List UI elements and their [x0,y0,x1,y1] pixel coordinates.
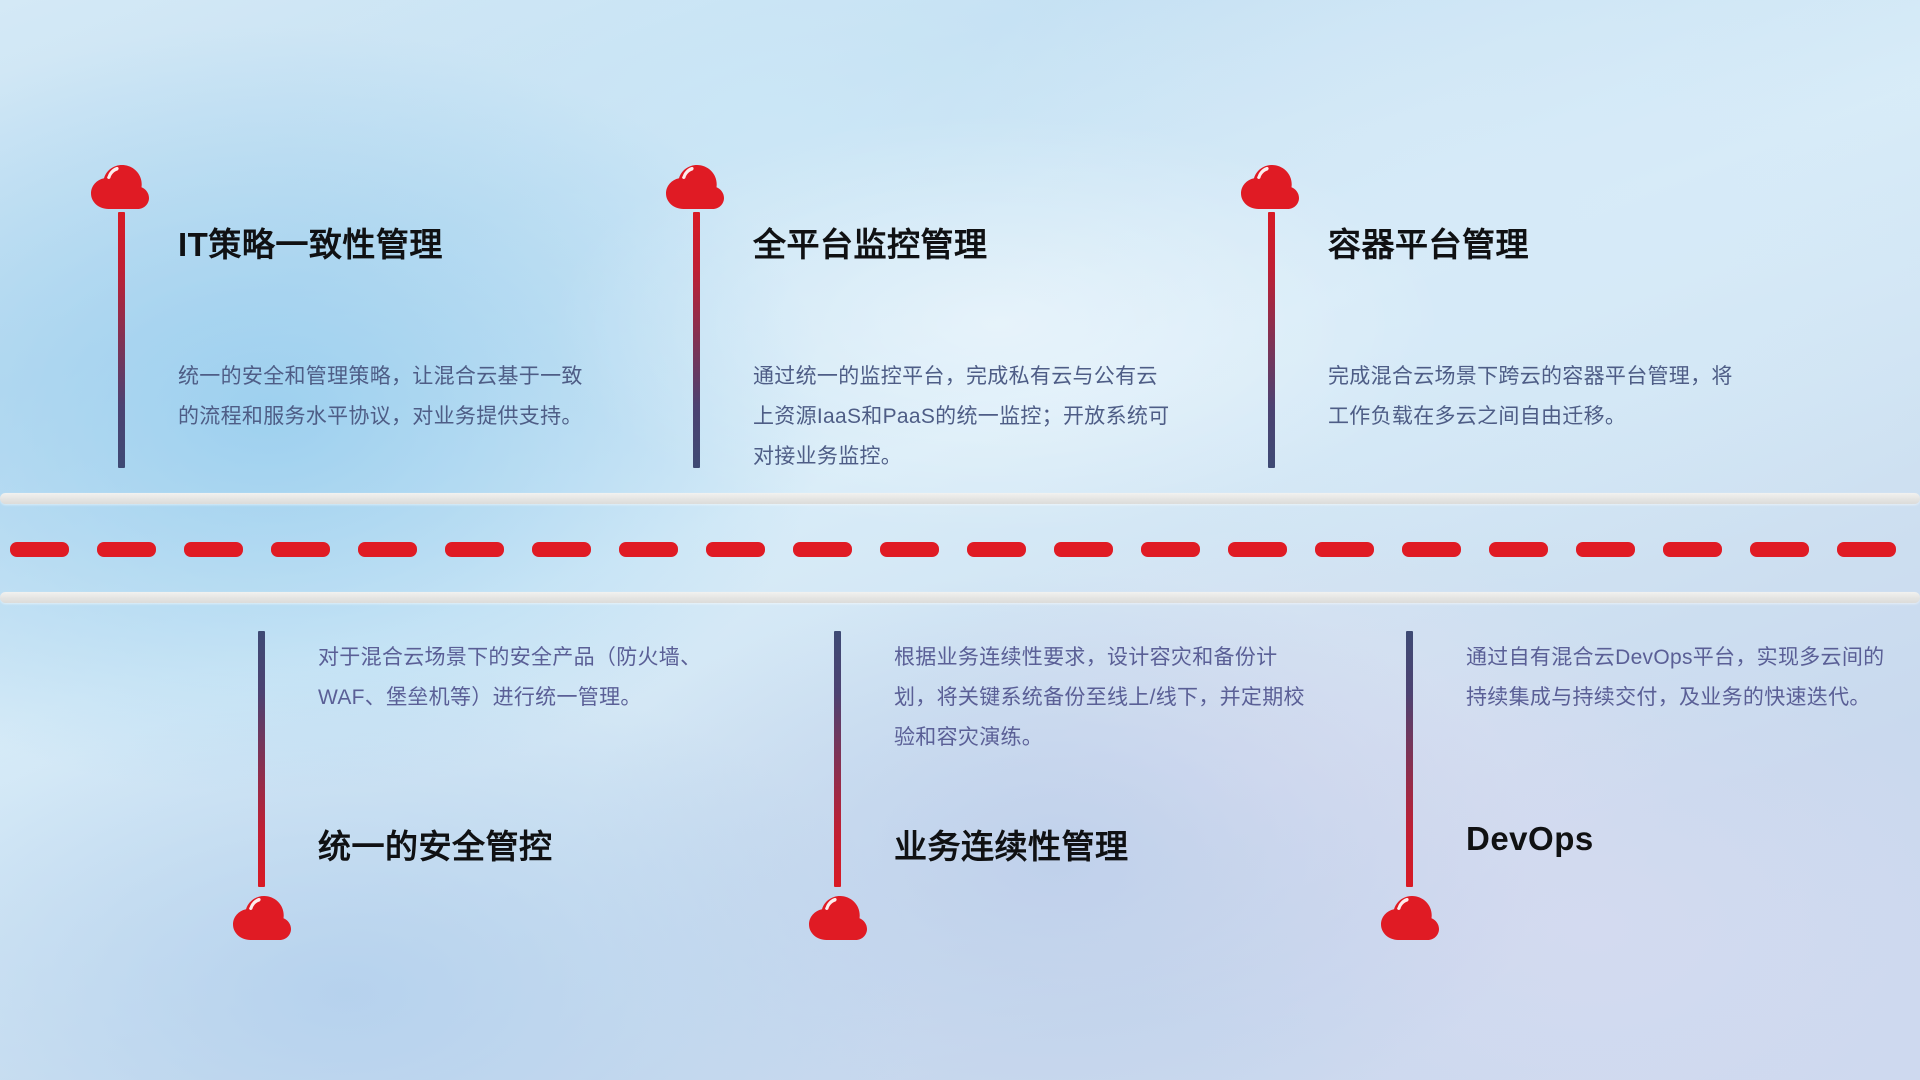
road-dash [1576,542,1635,557]
capability-title: 统一的安全管控 [318,820,553,868]
road-dash [1750,542,1809,557]
road-dash [706,542,765,557]
capability-title: 全平台监控管理 [753,218,988,266]
road-dash [619,542,678,557]
capability-title: IT策略一致性管理 [178,218,443,266]
road-dash [1315,542,1374,557]
cloud-icon [232,895,292,941]
road-dash [1837,542,1896,557]
capability-title: DevOps [1466,820,1594,858]
stem-line [1268,212,1275,468]
capability-body: 根据业务连续性要求，设计容灾和备份计划，将关键系统备份至线上/线下，并定期校验和… [894,638,1314,758]
road-dash [967,542,1026,557]
road-dash [532,542,591,557]
stem-line [834,631,841,887]
road-dash [880,542,939,557]
road-dash [184,542,243,557]
capability-title: 容器平台管理 [1328,218,1529,266]
capability-body: 对于混合云场景下的安全产品（防火墙、WAF、堡垒机等）进行统一管理。 [318,638,738,718]
road-dashed-centerline [0,542,1920,557]
cloud-icon [1380,895,1440,941]
cloud-icon [665,164,725,210]
road-edge-bottom [0,592,1920,603]
cloud-icon [1240,164,1300,210]
cloud-icon [90,164,150,210]
road-dash [358,542,417,557]
stem-line [258,631,265,887]
capability-title: 业务连续性管理 [894,820,1129,868]
road-dash [10,542,69,557]
road-dash [445,542,504,557]
capability-body: 通过自有混合云DevOps平台，实现多云间的持续集成与持续交付，及业务的快速迭代… [1466,638,1886,718]
road-edge-top [0,493,1920,504]
road-dash [1402,542,1461,557]
cloud-icon [808,895,868,941]
stem-line [693,212,700,468]
road-dash [1489,542,1548,557]
infographic-canvas: IT策略一致性管理 统一的安全和管理策略，让混合云基于一致的流程和服务水平协议，… [0,0,1920,1080]
road-dash [97,542,156,557]
capability-body: 完成混合云场景下跨云的容器平台管理，将工作负载在多云之间自由迁移。 [1328,357,1748,437]
capability-body: 通过统一的监控平台，完成私有云与公有云上资源IaaS和PaaS的统一监控；开放系… [753,357,1173,477]
road-dash [1141,542,1200,557]
road-dash [793,542,852,557]
stem-line [1406,631,1413,887]
road-dash [1663,542,1722,557]
stem-line [118,212,125,468]
road-dash [271,542,330,557]
road-dash [1054,542,1113,557]
capability-body: 统一的安全和管理策略，让混合云基于一致的流程和服务水平协议，对业务提供支持。 [178,357,598,437]
road-dash [1228,542,1287,557]
